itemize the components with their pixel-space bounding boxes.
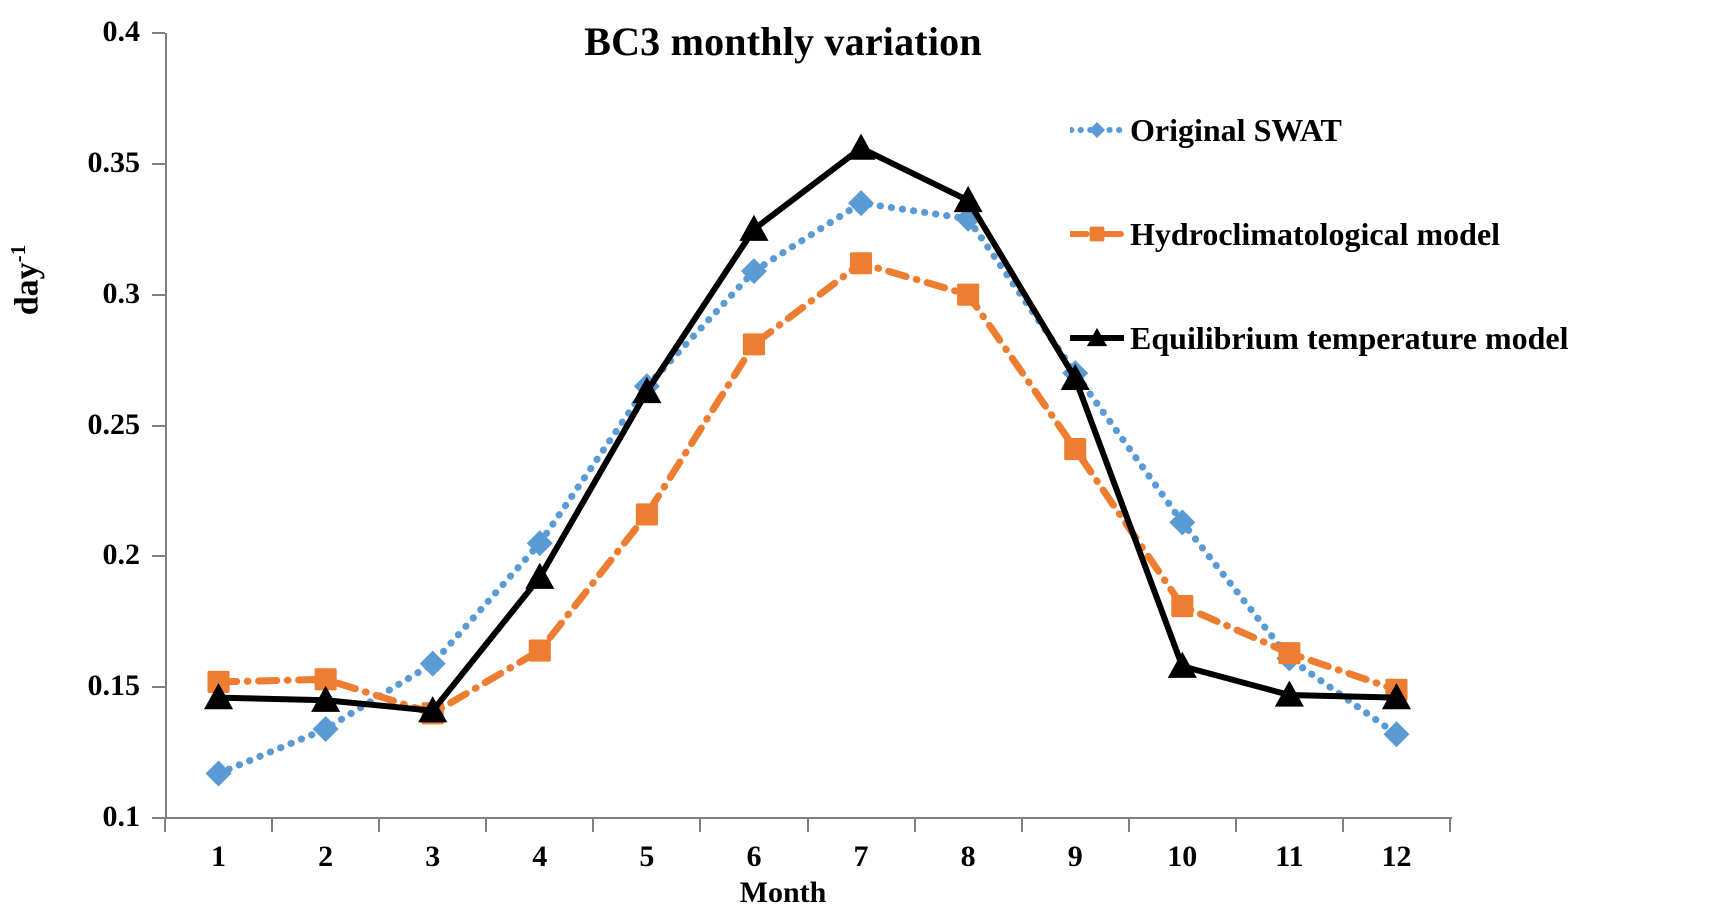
legend-entry[interactable]: Original SWAT [1070,78,1720,182]
x-axis-tick-label: 2 [281,842,371,872]
x-axis-tick-label: 7 [816,842,906,872]
y-axis-title-exponent: -1 [6,245,30,263]
y-axis-tick-label: 0.25 [0,410,140,440]
square-marker [1278,642,1300,664]
y-axis-tick-label: 0.35 [0,148,140,178]
legend-marker-icon [1070,323,1124,353]
triangle-marker [846,134,875,160]
x-axis-tick-label: 11 [1244,842,1334,872]
square-marker [529,639,551,661]
x-axis-tick [485,818,487,832]
y-axis-tick [152,686,165,688]
x-axis-title: Month [0,876,1646,910]
x-axis-tick-label: 4 [495,842,585,872]
square-marker [1171,595,1193,617]
x-axis-tick [271,818,273,832]
x-axis-tick [1342,818,1344,832]
square-marker [957,284,979,306]
x-axis-tick-label: 3 [388,842,478,872]
y-axis-tick [152,294,165,296]
legend-swatch-diamond-icon [1070,115,1124,145]
y-axis-tick [152,555,165,557]
x-axis-tick-label: 12 [1351,842,1441,872]
y-axis-tick-label: 0.4 [0,17,140,47]
legend-label: Equilibrium temperature model [1130,320,1569,357]
diamond-marker [313,716,339,742]
chart-figure: BC3 monthly variation day-1 0.40.350.30.… [0,0,1726,921]
square-marker [1090,227,1105,242]
square-marker [850,252,872,274]
triangle-marker [954,186,983,212]
diamond-marker [206,761,232,787]
chart-legend: Original SWATHydroclimatological modelEq… [1070,78,1720,390]
x-axis-tick-label: 1 [174,842,264,872]
y-axis-tick-label: 0.1 [0,802,140,832]
diamond-marker [1089,122,1105,138]
x-axis-tick [592,818,594,832]
legend-entry[interactable]: Hydroclimatological model [1070,182,1720,286]
legend-swatch-square-icon [1070,219,1124,249]
x-axis-tick-label: 9 [1030,842,1120,872]
square-marker [636,503,658,525]
legend-marker-icon [1070,115,1124,145]
x-axis-tick [1235,818,1237,832]
legend-label: Hydroclimatological model [1130,216,1500,253]
legend-marker-icon [1070,219,1124,249]
x-axis-tick [699,818,701,832]
y-axis-tick [152,163,165,165]
triangle-marker [525,563,554,589]
legend-swatch-triangle-icon [1070,323,1124,353]
square-marker [1064,438,1086,460]
triangle-marker [1168,652,1197,678]
y-axis-tick-label: 0.15 [0,671,140,701]
y-axis-tick [152,425,165,427]
y-axis-tick-label: 0.3 [0,279,140,309]
x-axis-tick [914,818,916,832]
x-axis-tick [1128,818,1130,832]
x-axis-tick [164,818,166,832]
x-axis-tick-label: 10 [1137,842,1227,872]
x-axis-tick-label: 8 [923,842,1013,872]
x-axis-tick-label: 6 [709,842,799,872]
y-axis-tick-label: 0.2 [0,540,140,570]
x-axis-tick [378,818,380,832]
x-axis-tick [807,818,809,832]
legend-entry[interactable]: Equilibrium temperature model [1070,286,1720,390]
square-marker [743,333,765,355]
y-axis-tick [152,32,165,34]
x-axis-tick-label: 5 [602,842,692,872]
x-axis-tick [1021,818,1023,832]
legend-label: Original SWAT [1130,112,1342,149]
x-axis-tick [1449,818,1451,832]
